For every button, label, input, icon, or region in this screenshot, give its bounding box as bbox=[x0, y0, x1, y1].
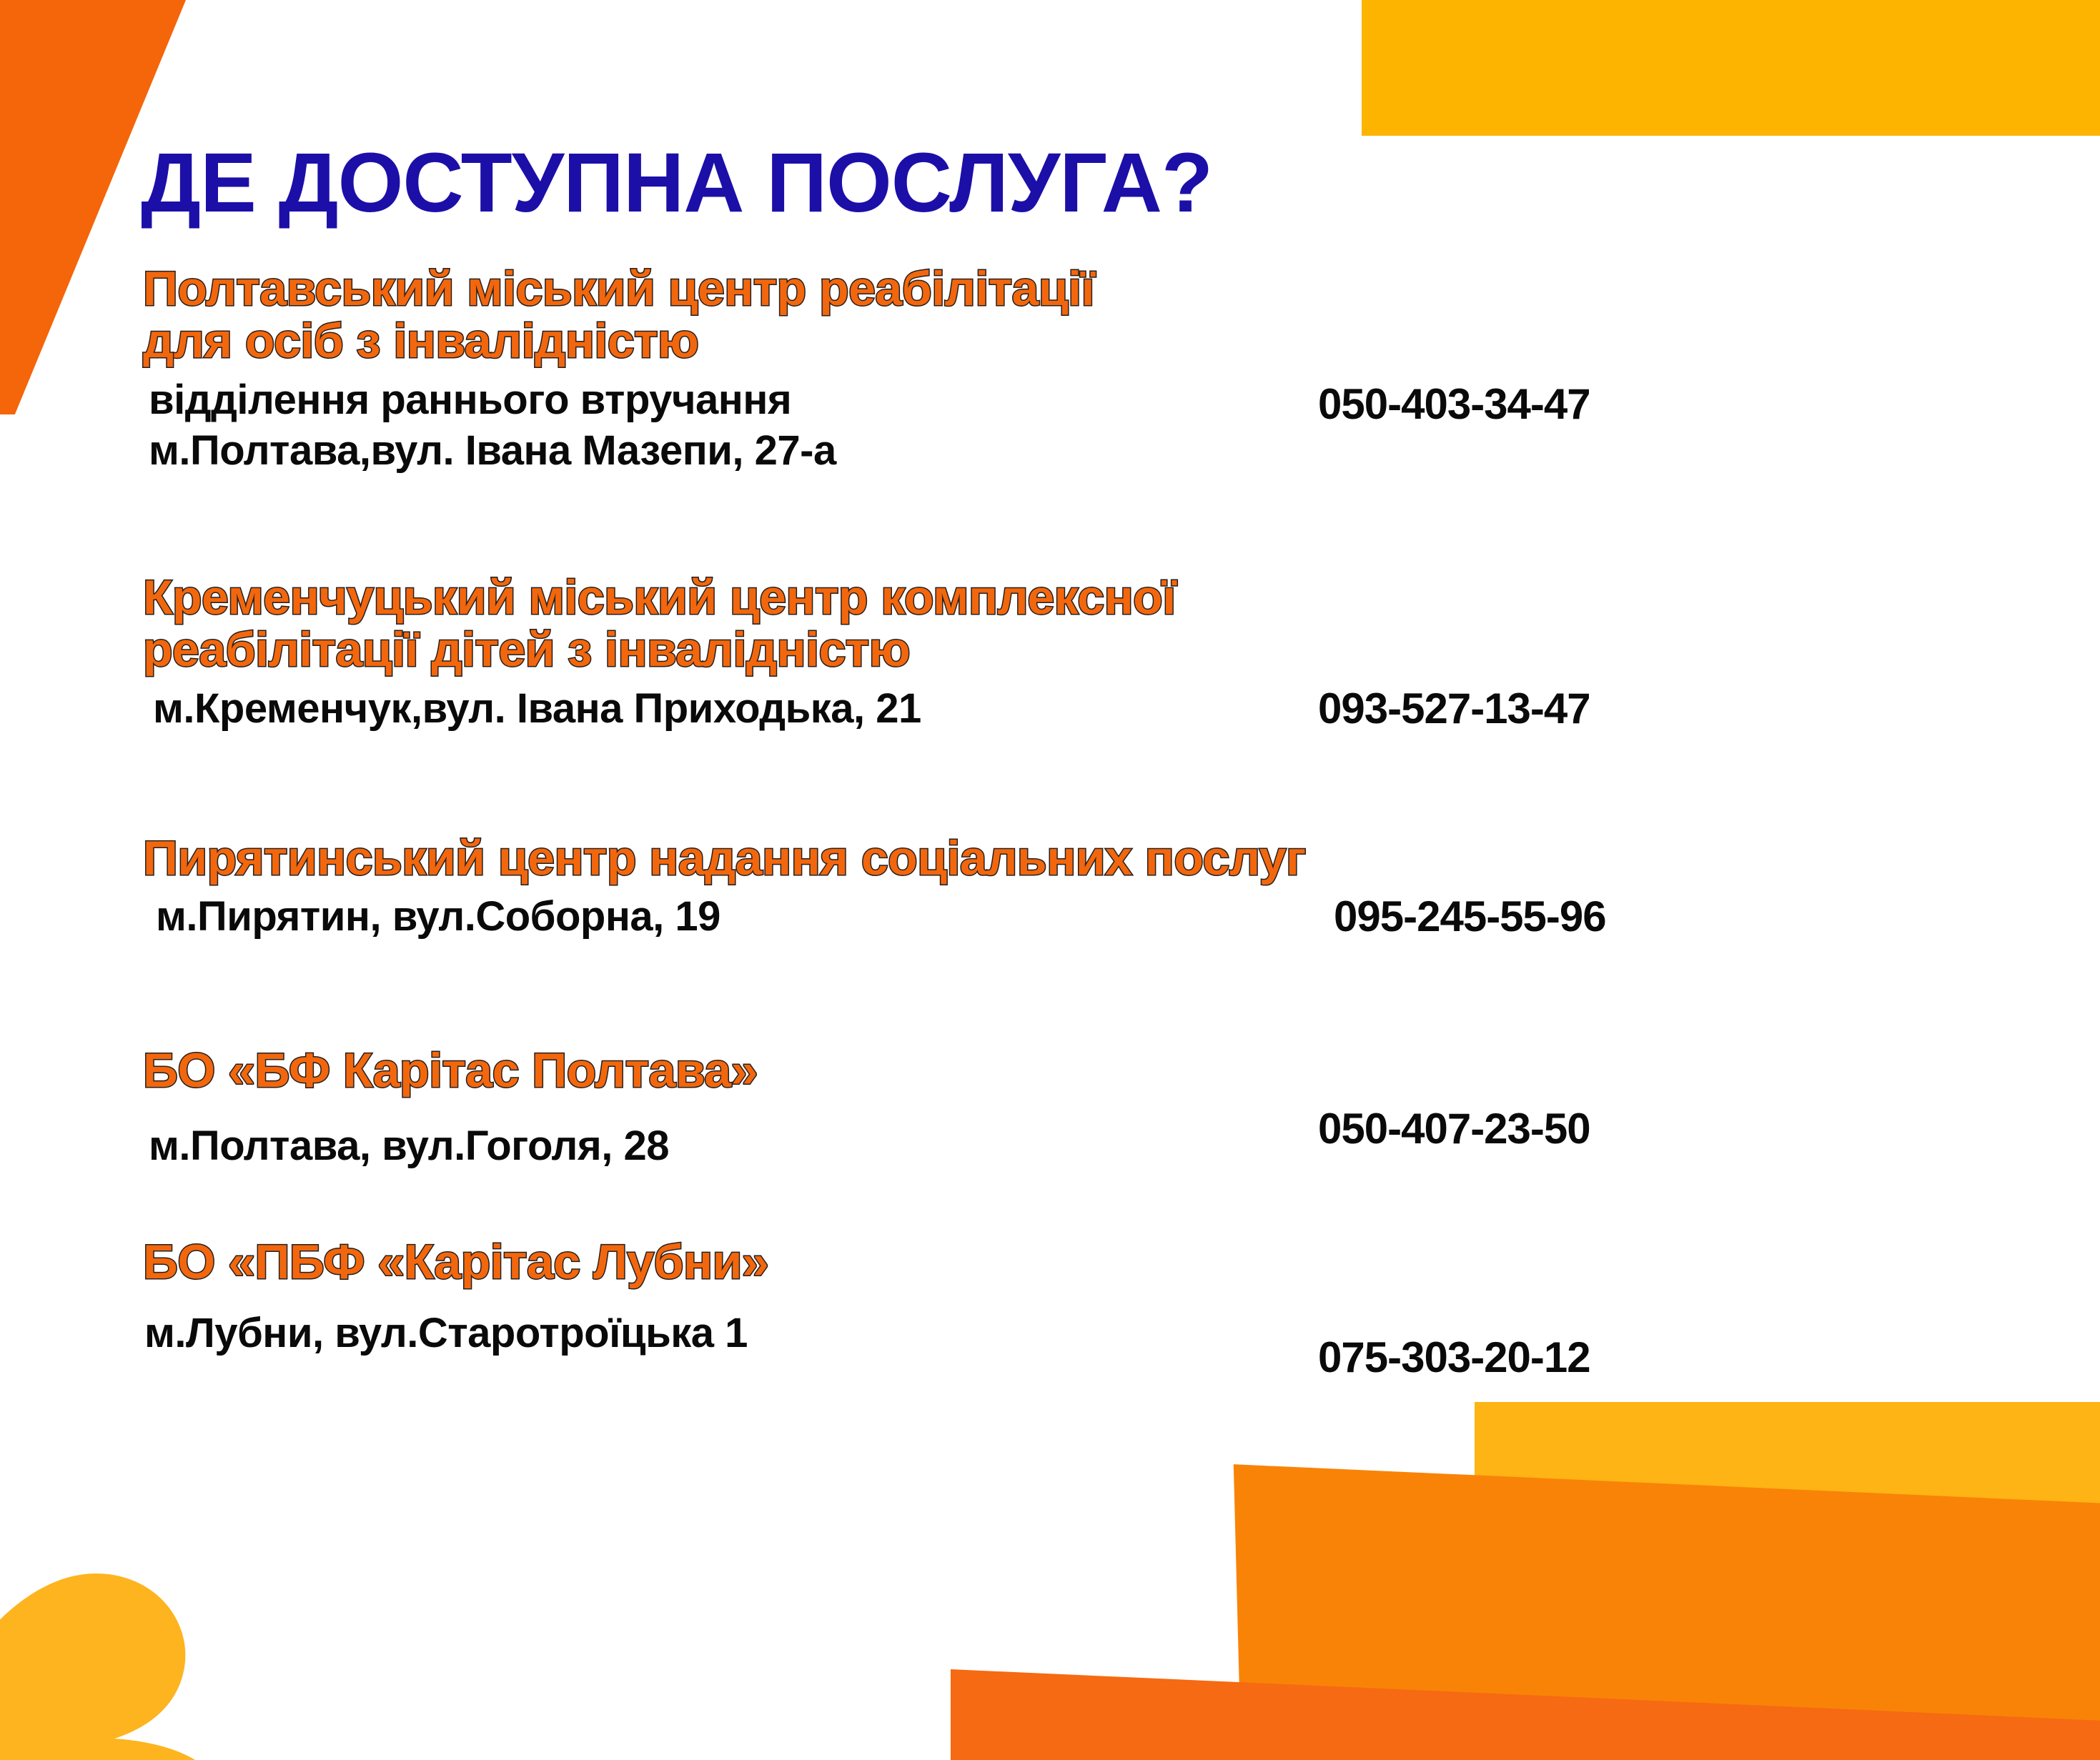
organization-rows: відділення раннього втручання м.Полтава,… bbox=[143, 375, 2001, 477]
slide-canvas: ДЕ ДОСТУПНА ПОСЛУГА? Полтавський міський… bbox=[0, 0, 2100, 1760]
organization-name: Полтавський міський центр реабілітації д… bbox=[143, 263, 2001, 368]
organization-phone[interactable]: 050-403-34-47 bbox=[1318, 379, 1590, 429]
organization-name: БО «БФ Карітас Полтава» bbox=[143, 1045, 2001, 1097]
organization-rows: м.Полтава, вул.Гоголя, 28 050-407-23-50 bbox=[143, 1104, 2001, 1172]
organization-phone-column: 050-407-23-50 bbox=[1285, 1104, 1590, 1153]
organization-detail-line: відділення раннього втручання bbox=[149, 375, 1285, 426]
organization-row: відділення раннього втручання м.Полтава,… bbox=[143, 375, 2001, 477]
organization-phone-column: 093-527-13-47 bbox=[1268, 684, 1590, 733]
organization-phone[interactable]: 075-303-20-12 bbox=[1318, 1333, 1590, 1382]
organization-row: м.Полтава, вул.Гоголя, 28 050-407-23-50 bbox=[143, 1104, 2001, 1172]
organization-row: м.Кременчук,вул. Івана Приходька, 21 093… bbox=[143, 684, 2001, 735]
organization-details: відділення раннього втручання м.Полтава,… bbox=[143, 375, 1285, 477]
organization-phone-column: 095-245-55-96 bbox=[1292, 892, 1606, 941]
organization-rows: м.Пирятин, вул.Соборна, 19 095-245-55-96 bbox=[143, 892, 2001, 943]
organization-phone[interactable]: 050-407-23-50 bbox=[1318, 1104, 1590, 1153]
organization-address: м.Полтава,вул. Івана Мазепи, 27-а bbox=[149, 426, 1285, 477]
organization-rows: м.Лубни, вул.Старотроїцька 1 075-303-20-… bbox=[143, 1296, 2001, 1382]
organization-row: м.Пирятин, вул.Соборна, 19 095-245-55-96 bbox=[143, 892, 2001, 943]
organization-block: БО «БФ Карітас Полтава» м.Полтава, вул.Г… bbox=[143, 1045, 2001, 1172]
organization-phone[interactable]: 093-527-13-47 bbox=[1318, 684, 1590, 733]
organization-block: БО «ПБФ «Карітас Лубни» м.Лубни, вул.Ста… bbox=[143, 1236, 2001, 1382]
decoration-rectangle-bottom-right bbox=[1475, 1402, 2100, 1645]
organization-block: Пирятинський центр надання соціальних по… bbox=[143, 832, 2001, 943]
organization-address: м.Полтава, вул.Гоголя, 28 bbox=[149, 1121, 1285, 1172]
organization-block: Полтавський міський центр реабілітації д… bbox=[143, 263, 2001, 476]
organization-block: Кременчуцький міський центр комплексної … bbox=[143, 572, 2001, 735]
organization-details: м.Полтава, вул.Гоголя, 28 bbox=[143, 1104, 1285, 1172]
organization-phone-column: 050-403-34-47 bbox=[1285, 375, 1590, 429]
organization-name: БО «ПБФ «Карітас Лубни» bbox=[143, 1236, 2001, 1288]
organization-row: м.Лубни, вул.Старотроїцька 1 075-303-20-… bbox=[143, 1296, 2001, 1382]
organization-name: Кременчуцький міський центр комплексної … bbox=[143, 572, 2001, 677]
organization-phone[interactable]: 095-245-55-96 bbox=[1334, 892, 1606, 941]
organization-details: м.Кременчук,вул. Івана Приходька, 21 bbox=[143, 684, 1268, 735]
organization-details: м.Пирятин, вул.Соборна, 19 bbox=[143, 892, 1292, 943]
organization-name: Пирятинський центр надання соціальних по… bbox=[143, 832, 2001, 885]
organization-address: м.Лубни, вул.Старотроїцька 1 bbox=[144, 1308, 1281, 1359]
organization-phone-column: 075-303-20-12 bbox=[1281, 1296, 1590, 1382]
decoration-blob-bottom-left bbox=[0, 1490, 257, 1760]
organization-details: м.Лубни, вул.Старотроїцька 1 bbox=[143, 1296, 1281, 1359]
organization-address: м.Кременчук,вул. Івана Приходька, 21 bbox=[153, 684, 1268, 735]
page-title: ДЕ ДОСТУПНА ПОСЛУГА? bbox=[141, 141, 1212, 225]
decoration-rectangle-top-right bbox=[1362, 0, 2100, 136]
decoration-quadrilateral-bottom-right bbox=[1144, 1461, 2100, 1760]
decoration-band-bottom bbox=[951, 1661, 2100, 1760]
organization-rows: м.Кременчук,вул. Івана Приходька, 21 093… bbox=[143, 684, 2001, 735]
organization-address: м.Пирятин, вул.Соборна, 19 bbox=[156, 892, 1292, 943]
